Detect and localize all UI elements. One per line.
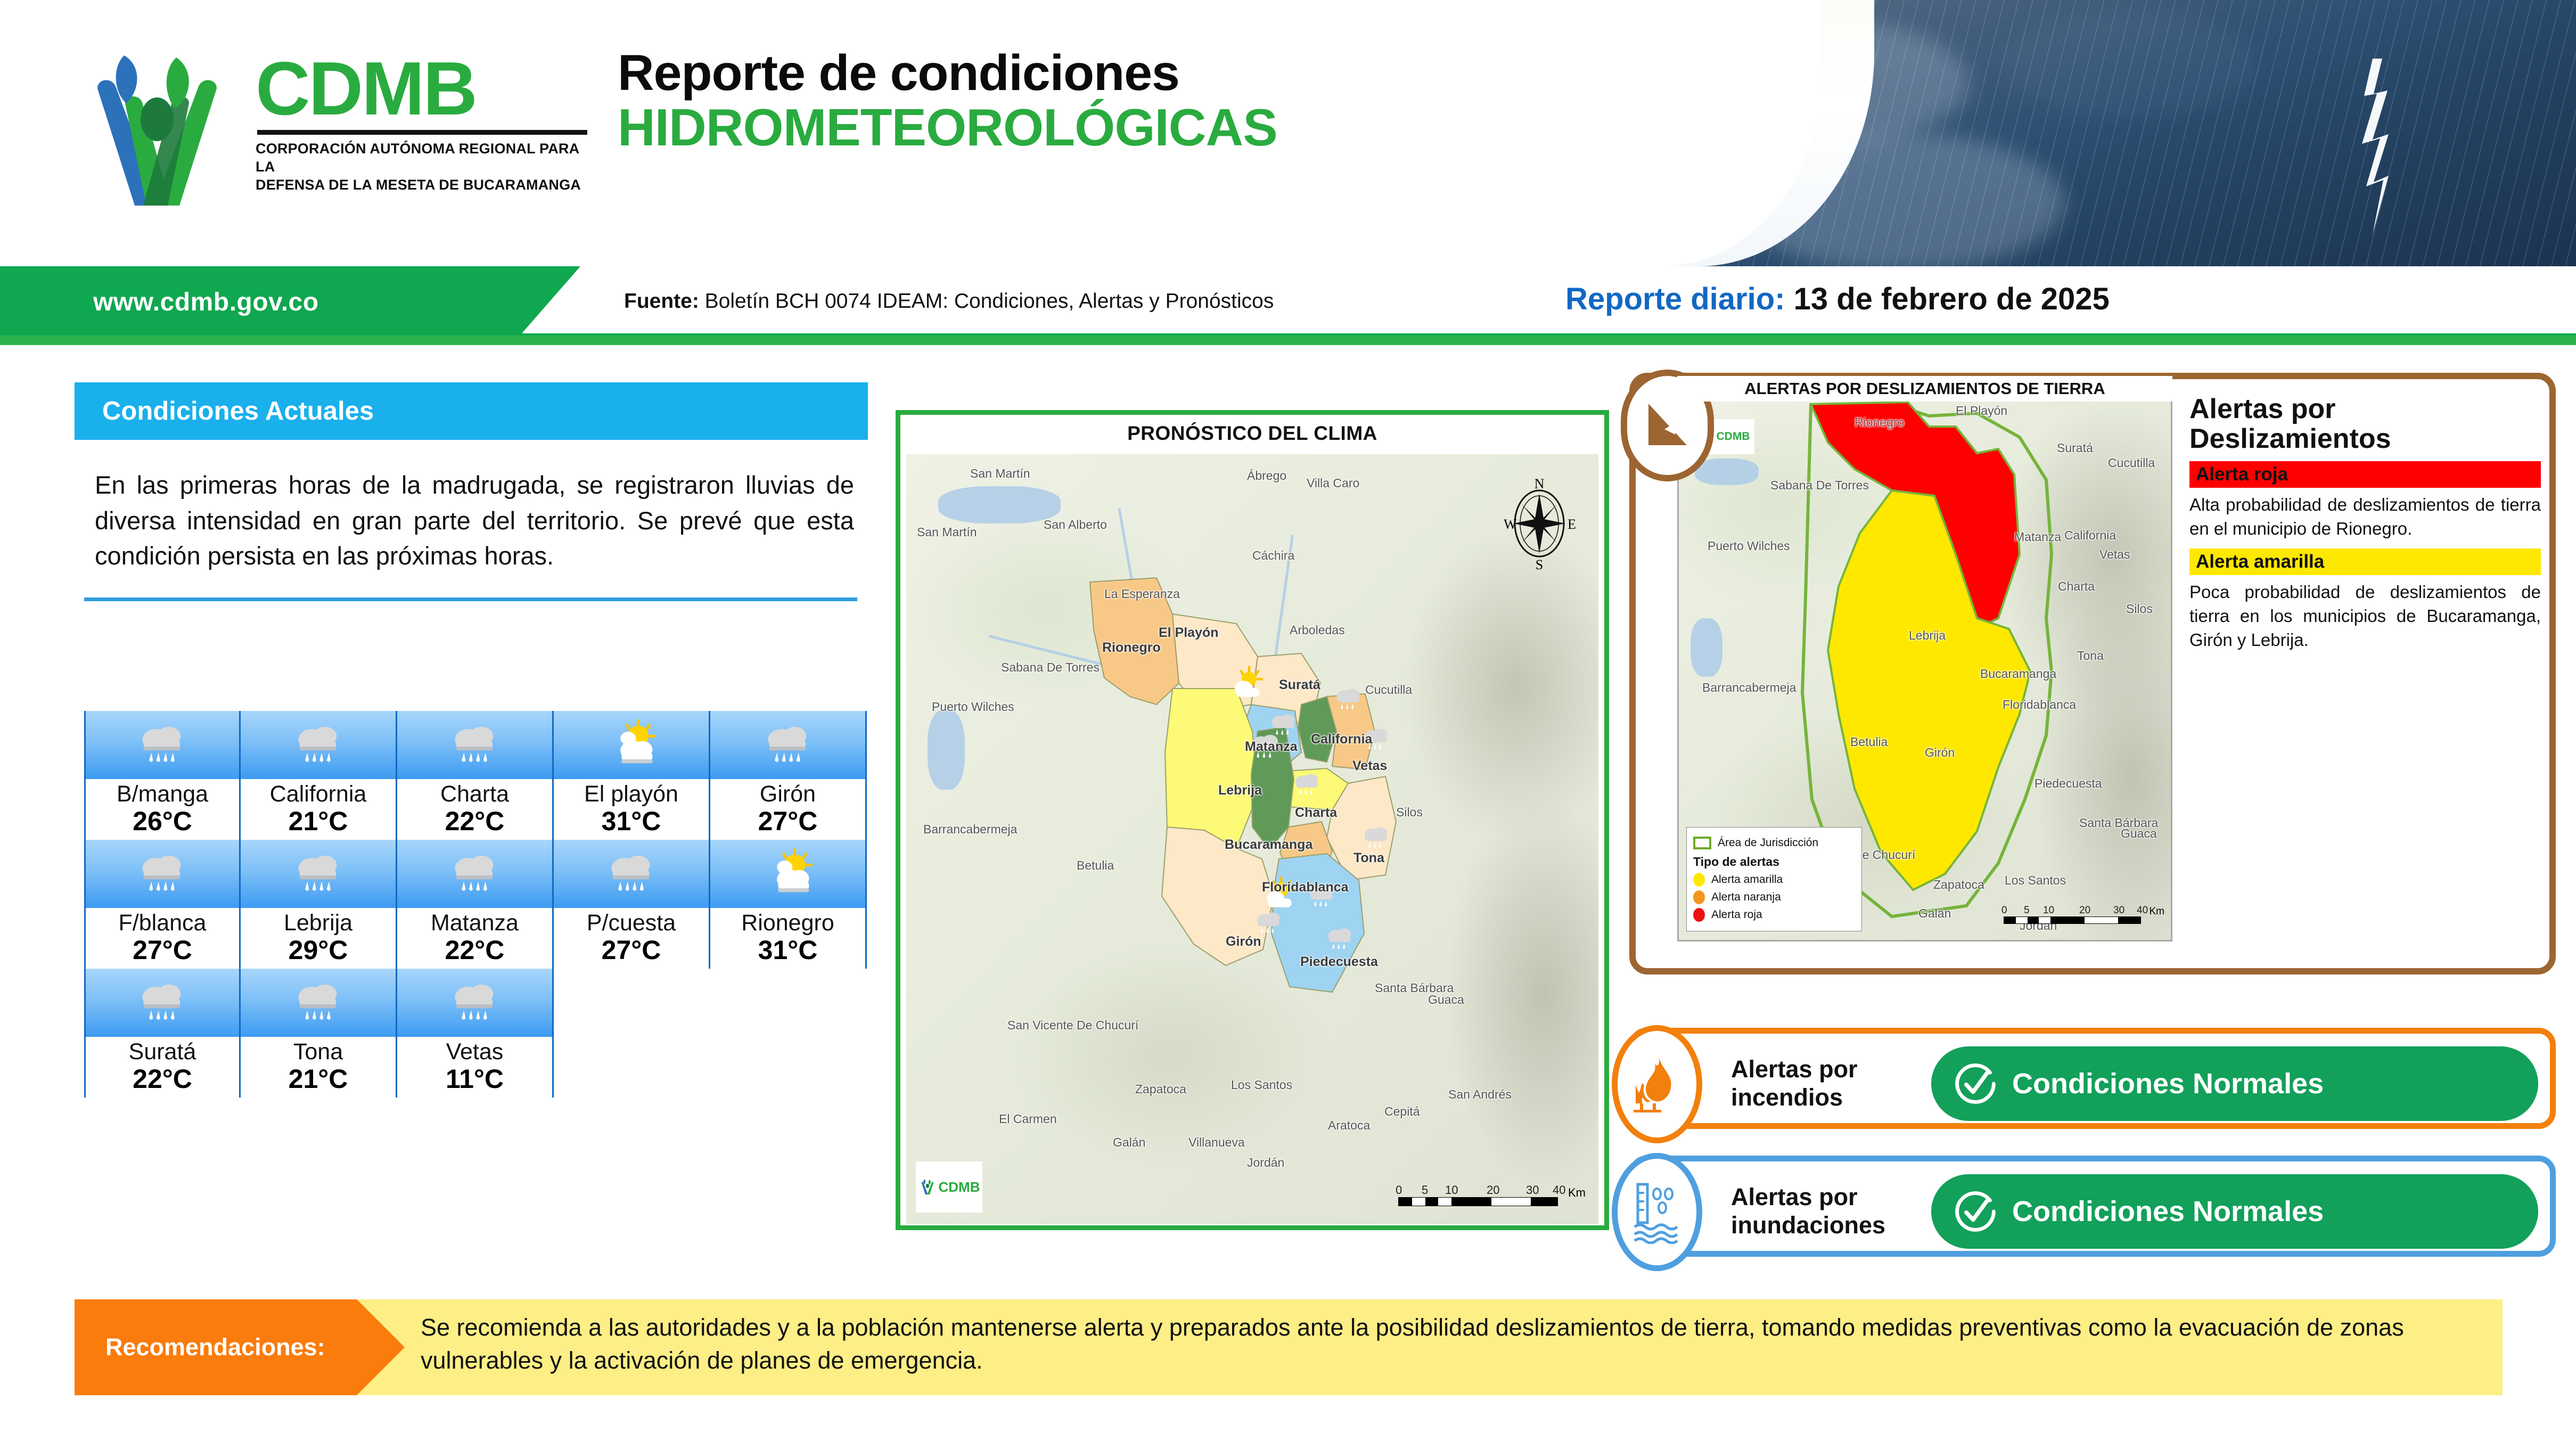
landslide-icon — [1641, 396, 1694, 455]
map-label: Suratá — [1279, 678, 1320, 692]
rain-cloud-icon — [291, 717, 346, 773]
scale-tick: 5 — [2024, 905, 2030, 916]
section-divider — [84, 597, 857, 601]
map-label: Barrancabermeja — [1702, 681, 1796, 694]
forecast-temp: 21°C — [241, 1064, 396, 1094]
rain-cloud-icon — [1332, 683, 1365, 716]
page-header: CDMB CORPORACIÓN AUTÓNOMA REGIONAL PARA … — [0, 0, 2576, 266]
recommendations-tab: Recomendaciones: — [75, 1299, 405, 1395]
map-label: Floridablanca — [1262, 880, 1349, 894]
fire-badge — [1612, 1025, 1702, 1143]
forecast-temp: 27°C — [554, 935, 709, 965]
legend-item-label: Alerta amarilla — [1711, 873, 1783, 886]
scale-tick: 10 — [2043, 905, 2054, 916]
map-label: Vetas — [2099, 548, 2130, 561]
map-label: Bucaramanga — [1980, 667, 2056, 680]
legend-jurisdiction-label: Área de Jurisdicción — [1718, 837, 1818, 849]
map-label: La Esperanza — [1104, 587, 1180, 600]
map-label: Matanza — [2014, 530, 2061, 543]
legend-swatch-yellow — [1693, 873, 1705, 887]
map-label: Lebrija — [1218, 783, 1262, 797]
forecast-city: P/cuesta — [554, 911, 709, 935]
map-label: Cucutilla — [2108, 456, 2155, 469]
flood-status-button[interactable]: Condiciones Normales — [1931, 1174, 2538, 1249]
sun-cloud-icon — [1226, 665, 1266, 705]
rain-cloud-icon — [1324, 923, 1357, 956]
forecast-cell: P/cuesta 27°C — [554, 840, 710, 969]
forecast-city: El playón — [554, 782, 709, 806]
source-line: Fuente: Boletín BCH 0074 IDEAM: Condicio… — [624, 290, 1274, 313]
map-label: Rionegro — [1855, 416, 1904, 429]
forecast-cell: Suratá 22°C — [84, 969, 241, 1098]
scale-tick: 5 — [1422, 1183, 1428, 1197]
map-label: Bucaramanga — [1225, 838, 1312, 852]
legend-item-label: Alerta naranja — [1711, 891, 1781, 904]
forecast-cell: Girón 27°C — [710, 711, 867, 840]
svg-text:S: S — [1536, 557, 1543, 571]
alert-level-red: Alerta roja — [2189, 461, 2541, 488]
source-label: Fuente: — [624, 290, 699, 313]
scale-unit: Km — [2150, 906, 2165, 918]
forecast-temp: 31°C — [710, 935, 865, 965]
map-label: Piedecuesta — [2034, 777, 2102, 790]
flood-gauge-icon — [1631, 1180, 1683, 1244]
fire-label-line1: Alertas por — [1731, 1055, 1858, 1083]
scale-tick: 40 — [1553, 1183, 1565, 1197]
map-label: Galán — [1918, 907, 1951, 920]
landslide-map-title: ALERTAS POR DESLIZAMIENTOS DE TIERRA — [1677, 376, 2172, 402]
logo-acronym: CDMB — [256, 51, 602, 127]
map-label: Rionegro — [1102, 641, 1161, 654]
alert-yellow-text: Poca probabilidad de deslizamientos de t… — [2189, 580, 2541, 652]
landslide-alerts-card: ALERTAS POR DESLIZAMIENTOS DE TIERRA Rio… — [1629, 373, 2556, 975]
legend-swatch-red — [1693, 908, 1705, 922]
rain-cloud-icon — [291, 846, 346, 902]
map-label: Cucutilla — [1365, 683, 1412, 696]
map-label: Suratá — [2057, 441, 2093, 454]
forecast-cell: El playón 31°C — [554, 711, 710, 840]
map-label: Floridablanca — [2003, 698, 2076, 711]
forecast-city: F/blanca — [86, 911, 239, 935]
forecast-grid: B/manga 26°C California 21°C Charta — [84, 711, 868, 1098]
scale-tick: 30 — [2113, 905, 2124, 916]
landslide-scale-bar: 0 5 10 20 30 40 Km — [2004, 905, 2163, 924]
info-bar-underline — [0, 335, 2576, 345]
map-label: Silos — [1396, 806, 1423, 818]
map-label: Zapatoca — [1933, 878, 1984, 891]
weather-icon-cell — [241, 711, 397, 779]
map-cdmb-logo: CDMB — [916, 1161, 982, 1213]
cdmb-logo-mark — [918, 1176, 937, 1198]
map-label: Sabana De Torres — [1770, 479, 1814, 492]
sun-cloud-icon — [604, 717, 659, 773]
rain-cloud-icon — [604, 846, 659, 902]
map-label: Aratoca — [1328, 1119, 1370, 1132]
legend-item-label: Alerta roja — [1711, 908, 1762, 921]
forecast-temp: 22°C — [397, 806, 552, 836]
source-text: Boletín BCH 0074 IDEAM: Condiciones, Ale… — [705, 290, 1274, 313]
map-label: Cáchira — [1252, 549, 1294, 562]
landslide-map[interactable]: Rionegro El Playón Suratá Cucutilla Saba… — [1677, 393, 2172, 942]
info-bar: www.cdmb.gov.co Fuente: Boletín BCH 0074… — [0, 266, 2576, 345]
forecast-city: B/manga — [86, 782, 239, 806]
recommendations-label: Recomendaciones: — [75, 1333, 325, 1361]
map-label: Tona — [2077, 649, 2104, 662]
forecast-city: Suratá — [86, 1039, 239, 1064]
check-circle-icon — [1952, 1061, 1998, 1107]
forecast-temp: 26°C — [86, 806, 239, 836]
map-label: Puerto Wilches — [932, 700, 990, 713]
scale-tick: 20 — [2079, 905, 2090, 916]
fire-status-button[interactable]: Condiciones Normales — [1931, 1046, 2538, 1121]
svg-text:W: W — [1504, 517, 1517, 532]
map-label: Tona — [1353, 851, 1384, 865]
flood-label-line2: inundaciones — [1731, 1211, 1885, 1239]
weather-icon-cell — [84, 840, 241, 908]
legend-types-title: Tipo de alertas — [1693, 855, 1855, 869]
rain-cloud-icon — [447, 717, 503, 773]
map-label: Charta — [2058, 580, 2095, 593]
rain-cloud-icon — [1267, 709, 1300, 742]
map-label: Galán — [1113, 1136, 1145, 1149]
forecast-temp: 31°C — [554, 806, 709, 836]
rain-cloud-icon — [135, 975, 190, 1030]
map-label: Charta — [1295, 806, 1337, 820]
weather-icon-cell — [397, 711, 554, 779]
landslide-heading: Alertas por Deslizamientos — [2189, 394, 2541, 454]
lightning-icon — [2343, 59, 2407, 234]
map-label: San Andrés — [1448, 1088, 1488, 1101]
map-label: Guaca — [1428, 993, 1464, 1006]
recommendations-bar: Recomendaciones: Se recomienda a las aut… — [75, 1299, 2503, 1395]
weather-icon-cell — [84, 969, 241, 1037]
alert-level-yellow: Alerta amarilla — [2189, 549, 2541, 575]
map-label: Santa Bárbara — [1375, 981, 1417, 994]
map-label: California — [1311, 732, 1372, 746]
map-label: Santa Bárbara — [2079, 816, 2118, 829]
map-label: Matanza — [1245, 740, 1298, 754]
map-label: Barrancabermeja — [923, 823, 1017, 836]
scale-tick: 10 — [1445, 1183, 1458, 1197]
map-label: El Playón — [1956, 404, 2007, 417]
title-line-1: Reporte de condiciones — [618, 47, 1277, 100]
forecast-city: Rionegro — [710, 911, 865, 935]
map-label: Villanueva — [1188, 1136, 1245, 1149]
map-label: Lebrija — [1909, 629, 1946, 642]
map-label: Los Santos — [2005, 874, 2066, 887]
flood-badge — [1612, 1153, 1702, 1271]
scale-tick: 0 — [1396, 1183, 1402, 1197]
forecast-temp: 11°C — [397, 1064, 552, 1094]
cdmb-logo-mark — [67, 46, 248, 216]
forecast-city: California — [241, 782, 396, 806]
fire-label-line2: incendios — [1731, 1083, 1858, 1111]
rain-cloud-icon — [447, 975, 503, 1030]
forecast-cell: Lebrija 29°C — [241, 840, 397, 969]
forecast-temp: 21°C — [241, 806, 396, 836]
forecast-temp: 22°C — [397, 935, 552, 965]
map-label: Ábrego — [1247, 469, 1286, 482]
weather-icon-cell — [241, 840, 397, 908]
rain-cloud-icon — [1291, 768, 1324, 801]
jurisdiction-swatch — [1693, 837, 1711, 849]
map-label: San Martín — [917, 526, 977, 538]
compass-rose-icon: N S W E — [1499, 470, 1579, 571]
current-conditions-panel: Condiciones Actuales En las primeras hor… — [75, 382, 868, 601]
flood-alert-panel[interactable]: Alertas por inundaciones Condiciones Nor… — [1629, 1156, 2556, 1257]
forecast-row: B/manga 26°C California 21°C Charta — [84, 711, 868, 840]
map-label: Betulia — [1077, 859, 1114, 872]
weather-icon-cell — [397, 840, 554, 908]
current-conditions-body: En las primeras horas de la madrugada, s… — [75, 468, 868, 574]
map-label: Girón — [1925, 746, 1955, 759]
map-label: Silos — [2126, 602, 2153, 615]
map-label: San Alberto — [1044, 518, 1107, 531]
forecast-city: Vetas — [397, 1039, 552, 1064]
forecast-cell: Charta 22°C — [397, 711, 554, 840]
map-label: Betulia — [1850, 735, 1888, 748]
map-label: Puerto Wilches — [1708, 539, 1746, 552]
cdmb-logo: CDMB CORPORACIÓN AUTÓNOMA REGIONAL PARA … — [67, 42, 604, 217]
svg-text:N: N — [1535, 476, 1545, 492]
website-url[interactable]: www.cdmb.gov.co — [93, 288, 319, 317]
flood-status-text: Condiciones Normales — [2012, 1195, 2324, 1228]
forecast-cell: Rionegro 31°C — [710, 840, 867, 969]
fire-icon — [1631, 1052, 1683, 1116]
recommendations-text: Se recomienda a las autoridades y a la p… — [421, 1311, 2487, 1377]
forecast-temp: 27°C — [86, 935, 239, 965]
fire-alert-label: Alertas por incendios — [1731, 1055, 1858, 1111]
forecast-city: Girón — [710, 782, 865, 806]
current-conditions-header: Condiciones Actuales — [75, 382, 868, 440]
forecast-cell: California 21°C — [241, 711, 397, 840]
forecast-temp: 22°C — [86, 1064, 239, 1094]
weather-icon-cell — [241, 969, 397, 1037]
forecast-temp: 29°C — [241, 935, 396, 965]
rain-cloud-icon — [447, 846, 503, 902]
svg-text:E: E — [1568, 517, 1576, 532]
scale-tick: 0 — [2001, 905, 2007, 916]
report-date-label: Reporte diario: — [1565, 282, 1785, 316]
forecast-cell: Vetas 11°C — [397, 969, 554, 1098]
landslide-text-panel: Alertas por Deslizamientos Alerta roja A… — [2189, 394, 2541, 652]
forecast-city: Lebrija — [241, 911, 396, 935]
map-label: Vetas — [1352, 759, 1387, 773]
forecast-row: F/blanca 27°C Lebrija 29°C Matanza — [84, 840, 868, 969]
report-date-value: 13 de febrero de 2025 — [1794, 282, 2110, 316]
forecast-city: Tona — [241, 1039, 396, 1064]
forecast-cell: F/blanca 27°C — [84, 840, 241, 969]
flood-alert-label: Alertas por inundaciones — [1731, 1183, 1885, 1239]
map-label: Villa Caro — [1307, 477, 1349, 489]
weather-map-canvas[interactable]: San Martín San Martín San Alberto La Esp… — [906, 454, 1598, 1224]
weather-icon-cell — [710, 711, 867, 779]
map-label: California — [2064, 529, 2116, 542]
report-date-line: Reporte diario: 13 de febrero de 2025 — [1565, 281, 2110, 317]
fire-status-text: Condiciones Normales — [2012, 1067, 2324, 1100]
check-circle-icon — [1952, 1189, 1998, 1234]
forecast-cell: B/manga 26°C — [84, 711, 241, 840]
weather-forecast-map[interactable]: PRONÓSTICO DEL CLIMA — [896, 410, 1609, 1230]
weather-icon-cell — [710, 840, 867, 908]
legend-swatch-orange — [1693, 890, 1705, 904]
weather-icon-cell — [554, 840, 710, 908]
landslide-map-logo-text: CDMB — [1717, 430, 1750, 443]
scale-unit: Km — [1568, 1186, 1586, 1200]
map-logo-text: CDMB — [939, 1179, 980, 1196]
map-label: Los Santos — [1231, 1078, 1292, 1091]
rain-cloud-icon — [135, 717, 190, 773]
weather-icon-cell — [554, 711, 710, 779]
title-line-2: HIDROMETEOROLÓGICAS — [618, 100, 1277, 155]
map-label: El Playón — [1159, 626, 1219, 640]
weather-icon-cell — [84, 711, 241, 779]
landslide-legend: Área de Jurisdicción Tipo de alertas Ale… — [1686, 827, 1862, 931]
current-conditions-title: Condiciones Actuales — [102, 396, 374, 426]
forecast-city: Matanza — [397, 911, 552, 935]
map-label: Cepitá — [1384, 1105, 1420, 1118]
rain-cloud-icon — [135, 846, 190, 902]
rain-cloud-icon — [291, 975, 346, 1030]
map-label: Arboledas — [1290, 624, 1345, 636]
flood-label-line1: Alertas por — [1731, 1183, 1885, 1211]
logo-subtitle-line2: DEFENSA DE LA MESETA DE BUCARAMANGA — [256, 176, 586, 194]
alert-red-text: Alta probabilidad de deslizamientos de t… — [2189, 493, 2541, 541]
forecast-row: Suratá 22°C Tona 21°C Vetas — [84, 969, 868, 1098]
forecast-cell: Matanza 22°C — [397, 840, 554, 969]
fire-alert-panel[interactable]: Alertas por incendios Condiciones Normal… — [1629, 1028, 2556, 1129]
forecast-city: Charta — [397, 782, 552, 806]
map-label: Guaca — [2121, 827, 2157, 840]
rain-cloud-icon — [1360, 822, 1393, 855]
sun-cloud-icon — [760, 846, 816, 902]
map-label: El Carmen — [999, 1112, 1057, 1125]
report-page: CDMB CORPORACIÓN AUTÓNOMA REGIONAL PARA … — [0, 0, 2576, 1449]
weather-map-title: PRONÓSTICO DEL CLIMA — [900, 415, 1604, 450]
weather-icon-cell — [397, 969, 554, 1037]
map-label: Zapatoca — [1135, 1083, 1186, 1095]
scale-tick: 20 — [1487, 1183, 1499, 1197]
logo-subtitle-line1: CORPORACIÓN AUTÓNOMA REGIONAL PARA LA — [256, 140, 586, 176]
map-label: Sabana De Torres — [1001, 661, 1060, 674]
map-label: San Vicente De Chucurí — [1007, 1019, 1077, 1032]
rain-cloud-icon — [760, 717, 816, 773]
map-label: Girón — [1226, 935, 1261, 948]
page-title: Reporte de condiciones HIDROMETEOROLÓGIC… — [618, 47, 1277, 155]
map-label: Piedecuesta — [1300, 955, 1378, 969]
map-label: San Martín — [970, 467, 1030, 480]
forecast-temp: 27°C — [710, 806, 865, 836]
scale-tick: 40 — [2137, 905, 2148, 916]
forecast-cell: Tona 21°C — [241, 969, 397, 1098]
scale-tick: 30 — [1526, 1183, 1539, 1197]
map-label: Jordán — [1247, 1156, 1284, 1169]
map-scale-bar: 0 5 10 20 30 40 Km — [1398, 1183, 1585, 1206]
